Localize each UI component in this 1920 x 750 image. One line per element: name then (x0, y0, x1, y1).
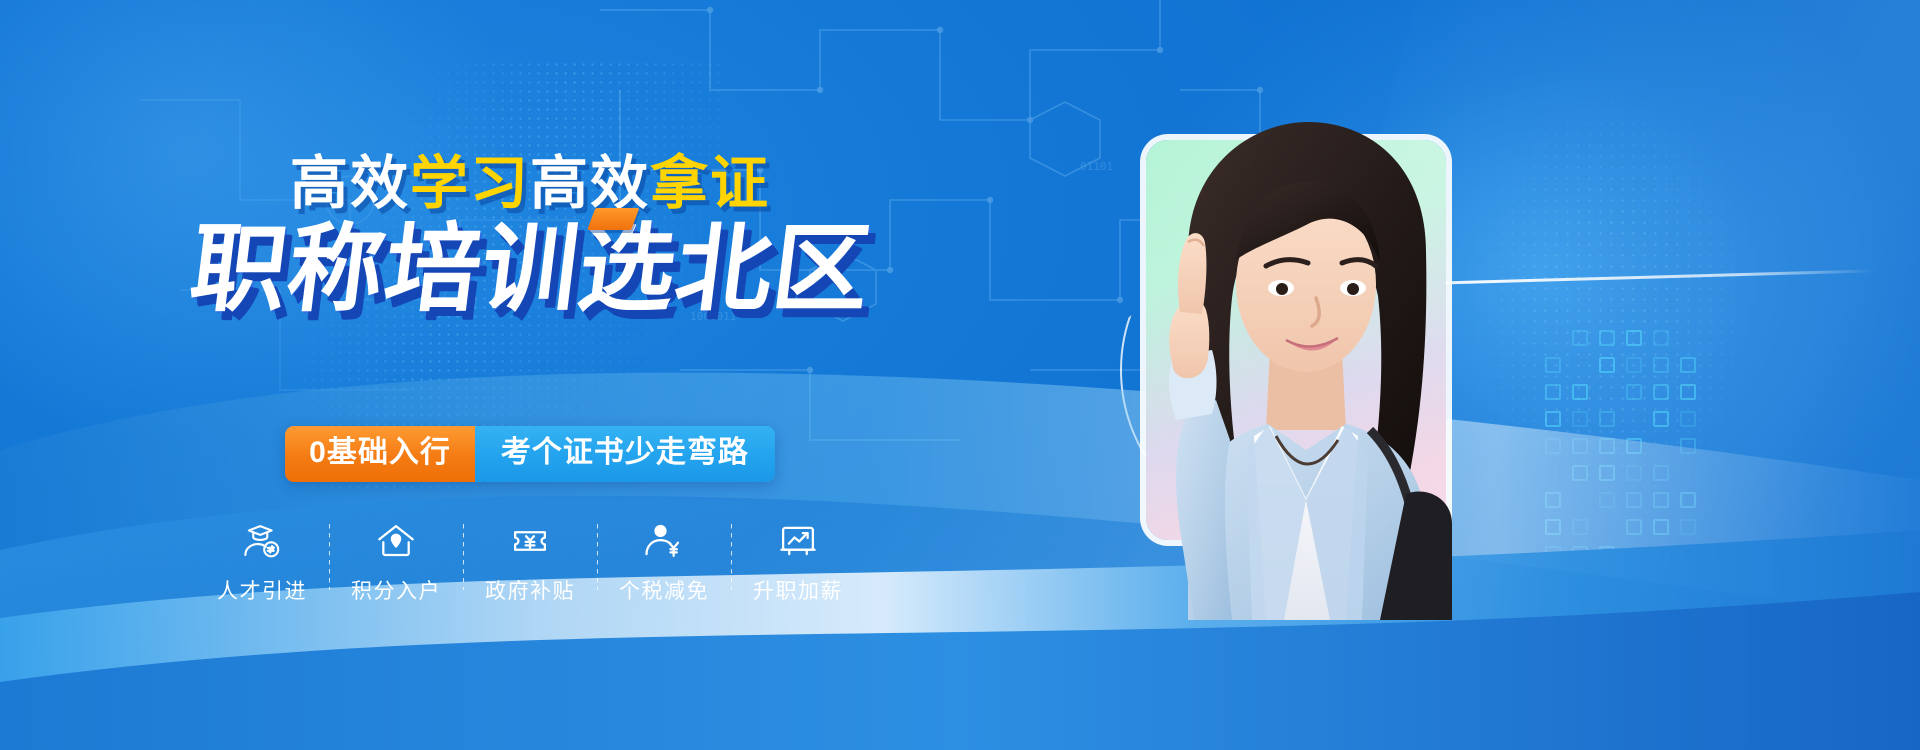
feature-label: 积分入户 (351, 575, 441, 605)
grid-square (1572, 411, 1588, 427)
grid-square (1572, 384, 1588, 400)
grid-square (1599, 438, 1615, 454)
grid-square (1626, 384, 1642, 400)
grid-square (1545, 357, 1561, 373)
grid-square (1545, 411, 1561, 427)
grid-square (1680, 492, 1696, 508)
presenter-photo (1070, 100, 1540, 620)
grid-square (1626, 438, 1642, 454)
feature-label: 人才引进 (217, 575, 307, 605)
feature-item-4[interactable]: 升职加薪 (732, 520, 865, 605)
grid-square (1680, 519, 1696, 535)
grid-square (1626, 357, 1642, 373)
grid-square (1545, 546, 1561, 562)
grid-square (1626, 492, 1642, 508)
grid-square (1626, 465, 1642, 481)
grid-square (1545, 384, 1561, 400)
headline-subtitle: 高效学习高效拿证 (0, 155, 1060, 213)
grid-square (1680, 546, 1696, 562)
coupon-yuan-icon (509, 520, 551, 562)
feature-label: 升职加薪 (753, 575, 843, 605)
headline-title-char-0: 职 (185, 222, 294, 318)
banner-content: 高效学习高效拿证 职称培训选北区 0基础入行 考个证书少走弯路 人才引进积分入户… (0, 0, 1060, 750)
grid-square (1599, 330, 1615, 346)
square-grid-decoration (1545, 330, 1775, 630)
headline-title: 职称培训选北区 (0, 222, 1060, 318)
house-pin-icon (375, 520, 417, 562)
grid-square (1680, 384, 1696, 400)
grid-square (1545, 519, 1561, 535)
grid-square (1653, 519, 1669, 535)
headline-subtitle-segment-0: 高效 (290, 151, 410, 216)
tagline-row: 0基础入行 考个证书少走弯路 (0, 426, 1060, 482)
growth-chart-icon (777, 520, 819, 562)
grid-square (1653, 330, 1669, 346)
grid-square (1599, 546, 1615, 562)
headline-subtitle-segment-1: 学习 (410, 151, 530, 216)
headline-title-char-4: 选 (573, 222, 682, 318)
tagline-right-label: 考个证书少走弯路 (475, 426, 775, 482)
grid-square (1599, 411, 1615, 427)
headline-subtitle-segment-2: 高效 (530, 151, 650, 216)
grid-square (1572, 438, 1588, 454)
headline-title-char-5: 北 (670, 222, 779, 318)
grid-square (1545, 492, 1561, 508)
grid-square (1599, 357, 1615, 373)
tagline-badge: 0基础入行 考个证书少走弯路 (285, 426, 775, 482)
grid-square (1572, 330, 1588, 346)
grid-square (1599, 492, 1615, 508)
grid-square (1626, 519, 1642, 535)
grid-square (1572, 546, 1588, 562)
feature-item-0[interactable]: 人才引进 (196, 520, 329, 605)
person-yuan-icon (643, 520, 685, 562)
headline-title-char-6: 区 (767, 222, 876, 318)
feature-label: 个税减免 (619, 575, 709, 605)
grid-square (1680, 357, 1696, 373)
grid-square (1653, 465, 1669, 481)
grid-square (1545, 438, 1561, 454)
graduate-person-icon (241, 520, 283, 562)
feature-list: 人才引进积分入户政府补贴个税减免升职加薪 (0, 520, 1060, 605)
grid-square (1599, 465, 1615, 481)
headline-title-char-2: 培 (379, 222, 488, 318)
grid-square (1653, 546, 1669, 562)
feature-item-3[interactable]: 个税减免 (598, 520, 731, 605)
grid-square (1572, 465, 1588, 481)
grid-square (1572, 519, 1588, 535)
grid-square (1653, 492, 1669, 508)
grid-square (1680, 411, 1696, 427)
grid-square (1653, 411, 1669, 427)
grid-square (1680, 438, 1696, 454)
grid-square (1653, 357, 1669, 373)
promo-banner: 1011001101 10010110110 (0, 0, 1920, 750)
headline-title-char-3: 训 (476, 222, 585, 318)
grid-square (1626, 330, 1642, 346)
feature-item-1[interactable]: 积分入户 (330, 520, 463, 605)
headline-title-char-1: 称 (282, 222, 391, 318)
tagline-left-label: 0基础入行 (285, 426, 475, 482)
grid-square (1653, 384, 1669, 400)
headline-subtitle-segment-3: 拿证 (650, 151, 770, 216)
hero-figure-stage (1090, 120, 1510, 550)
feature-label: 政府补贴 (485, 575, 575, 605)
feature-item-2[interactable]: 政府补贴 (464, 520, 597, 605)
